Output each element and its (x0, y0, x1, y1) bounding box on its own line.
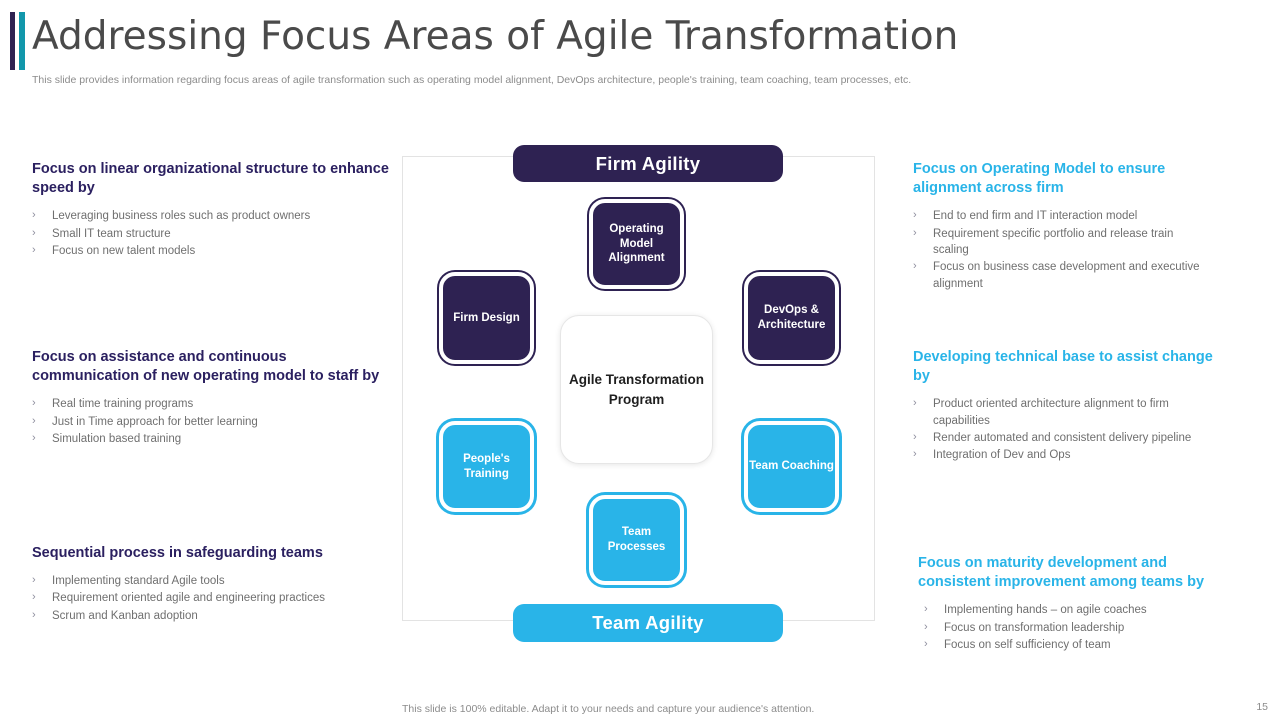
node-operating-model-alignment[interactable]: Operating Model Alignment (589, 199, 684, 289)
accent-bar-teal (19, 12, 25, 70)
right-block-2-heading: Developing technical base to assist chan… (913, 348, 1213, 386)
list-item-label: Focus on transformation leadership (944, 620, 1238, 636)
list-item-label: Implementing standard Agile tools (52, 573, 397, 589)
list-item-label: Focus on new talent models (52, 243, 392, 259)
list-item: ›Focus on new talent models (32, 243, 392, 259)
chevron-right-icon: › (924, 637, 944, 653)
chevron-right-icon: › (913, 396, 933, 412)
list-item: ›Just in Time approach for better learni… (32, 414, 392, 430)
right-block-1-heading: Focus on Operating Model to ensure align… (913, 160, 1203, 198)
footer-note: This slide is 100% editable. Adapt it to… (402, 703, 814, 715)
page-subtitle: This slide provides information regardin… (32, 74, 911, 86)
left-block-3-heading: Sequential process in safeguarding teams (32, 544, 397, 563)
title-accent-bars (10, 12, 28, 70)
right-block-1: Focus on Operating Model to ensure align… (913, 160, 1203, 293)
list-item-label: Leveraging business roles such as produc… (52, 208, 392, 224)
list-item: ›Requirement oriented agile and engineer… (32, 590, 397, 606)
list-item: ›Scrum and Kanban adoption (32, 608, 397, 624)
list-item: ›Integration of Dev and Ops (913, 447, 1213, 463)
list-item-label: Requirement specific portfolio and relea… (933, 226, 1203, 259)
left-block-1-bullets: ›Leveraging business roles such as produ… (32, 208, 392, 259)
list-item: ›Implementing standard Agile tools (32, 573, 397, 589)
chevron-right-icon: › (32, 226, 52, 242)
left-block-1-heading: Focus on linear organizational structure… (32, 160, 392, 198)
chevron-right-icon: › (924, 602, 944, 618)
chevron-right-icon: › (913, 208, 933, 224)
left-block-3: Sequential process in safeguarding teams… (32, 544, 397, 625)
right-block-3-bullets: ›Implementing hands – on agile coaches ›… (924, 602, 1238, 653)
list-item-label: Implementing hands – on agile coaches (944, 602, 1238, 618)
list-item: ›Render automated and consistent deliver… (913, 430, 1213, 446)
chevron-right-icon: › (32, 608, 52, 624)
chevron-right-icon: › (32, 431, 52, 447)
right-block-2: Developing technical base to assist chan… (913, 348, 1213, 465)
chevron-right-icon: › (32, 573, 52, 589)
list-item-label: Product oriented architecture alignment … (933, 396, 1213, 429)
node-team-processes[interactable]: Team Processes (589, 495, 684, 585)
chevron-right-icon: › (32, 243, 52, 259)
list-item-label: Render automated and consistent delivery… (933, 430, 1213, 446)
list-item: ›Focus on transformation leadership (924, 620, 1238, 636)
chevron-right-icon: › (924, 620, 944, 636)
list-item-label: Focus on self sufficiency of team (944, 637, 1238, 653)
chevron-right-icon: › (913, 430, 933, 446)
node-devops-architecture[interactable]: DevOps & Architecture (744, 272, 839, 364)
list-item-label: Just in Time approach for better learnin… (52, 414, 392, 430)
list-item: ›Leveraging business roles such as produ… (32, 208, 392, 224)
page-title: Addressing Focus Areas of Agile Transfor… (32, 14, 958, 59)
list-item-label: Scrum and Kanban adoption (52, 608, 397, 624)
center-node-agile-transformation-program[interactable]: Agile Transformation Program (560, 315, 713, 464)
list-item: ›Focus on self sufficiency of team (924, 637, 1238, 653)
right-block-3-heading: Focus on maturity development and consis… (918, 554, 1238, 592)
left-block-1: Focus on linear organizational structure… (32, 160, 392, 260)
accent-bar-dark (10, 12, 15, 70)
node-team-coaching[interactable]: Team Coaching (744, 421, 839, 512)
list-item-label: Integration of Dev and Ops (933, 447, 1213, 463)
right-block-3: Focus on maturity development and consis… (918, 554, 1238, 654)
chevron-right-icon: › (32, 208, 52, 224)
list-item-label: Small IT team structure (52, 226, 392, 242)
team-agility-band[interactable]: Team Agility (513, 604, 783, 642)
page-number: 15 (1256, 701, 1268, 713)
list-item-label: Simulation based training (52, 431, 392, 447)
list-item: ›End to end firm and IT interaction mode… (913, 208, 1203, 224)
list-item-label: End to end firm and IT interaction model (933, 208, 1203, 224)
chevron-right-icon: › (32, 590, 52, 606)
list-item: ›Simulation based training (32, 431, 392, 447)
left-block-2-bullets: ›Real time training programs ›Just in Ti… (32, 396, 392, 447)
right-block-1-bullets: ›End to end firm and IT interaction mode… (913, 208, 1203, 292)
list-item: ›Implementing hands – on agile coaches (924, 602, 1238, 618)
node-firm-design[interactable]: Firm Design (439, 272, 534, 364)
list-item: ›Requirement specific portfolio and rele… (913, 226, 1203, 259)
list-item-label: Requirement oriented agile and engineeri… (52, 590, 397, 606)
list-item: ›Small IT team structure (32, 226, 392, 242)
chevron-right-icon: › (32, 414, 52, 430)
left-block-2-heading: Focus on assistance and continuous commu… (32, 348, 392, 386)
chevron-right-icon: › (913, 259, 933, 275)
left-block-3-bullets: ›Implementing standard Agile tools ›Requ… (32, 573, 397, 624)
firm-agility-band[interactable]: Firm Agility (513, 145, 783, 182)
list-item: ›Focus on business case development and … (913, 259, 1203, 292)
chevron-right-icon: › (32, 396, 52, 412)
list-item: ›Real time training programs (32, 396, 392, 412)
list-item-label: Real time training programs (52, 396, 392, 412)
list-item: ›Product oriented architecture alignment… (913, 396, 1213, 429)
list-item-label: Focus on business case development and e… (933, 259, 1203, 292)
right-block-2-bullets: ›Product oriented architecture alignment… (913, 396, 1213, 463)
chevron-right-icon: › (913, 226, 933, 242)
chevron-right-icon: › (913, 447, 933, 463)
node-peoples-training[interactable]: People's Training (439, 421, 534, 512)
left-block-2: Focus on assistance and continuous commu… (32, 348, 392, 448)
